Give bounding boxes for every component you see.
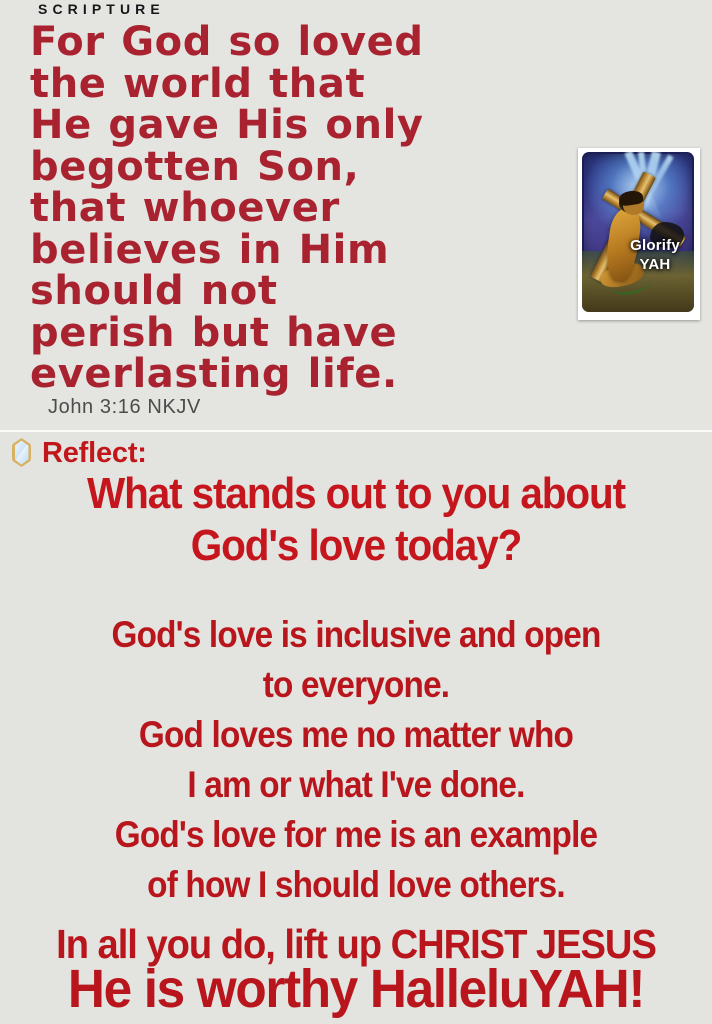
reflect-body-text: God's love is inclusive and open to ever… <box>36 610 677 910</box>
thumbnail-caption: Glorify YAH <box>620 236 690 274</box>
thumbnail-caption-line-2: YAH <box>620 255 690 274</box>
scripture-reference-label: John 3:16 NKJV <box>48 396 201 419</box>
thumbnail-caption-line-1: Glorify <box>620 236 690 255</box>
reflect-question-text: What stands out to you about God's love … <box>28 468 683 572</box>
scripture-kicker-label: SCRIPTURE <box>38 1 165 17</box>
cross-artwork-image: Glorify YAH <box>582 152 694 312</box>
mirror-icon <box>8 437 35 468</box>
scripture-panel: SCRIPTURE For God so loved the world tha… <box>0 0 712 430</box>
reflect-panel: Reflect: What stands out to you about Go… <box>0 430 712 1024</box>
glorify-yah-thumbnail-card[interactable]: Glorify YAH <box>578 148 700 320</box>
call-to-action-line-2: He is worthy HalleluYAH! <box>18 960 694 1018</box>
reflect-header: Reflect: <box>8 437 147 468</box>
reflect-label: Reflect: <box>42 438 147 468</box>
devotional-graphic: SCRIPTURE For God so loved the world tha… <box>0 0 712 1024</box>
